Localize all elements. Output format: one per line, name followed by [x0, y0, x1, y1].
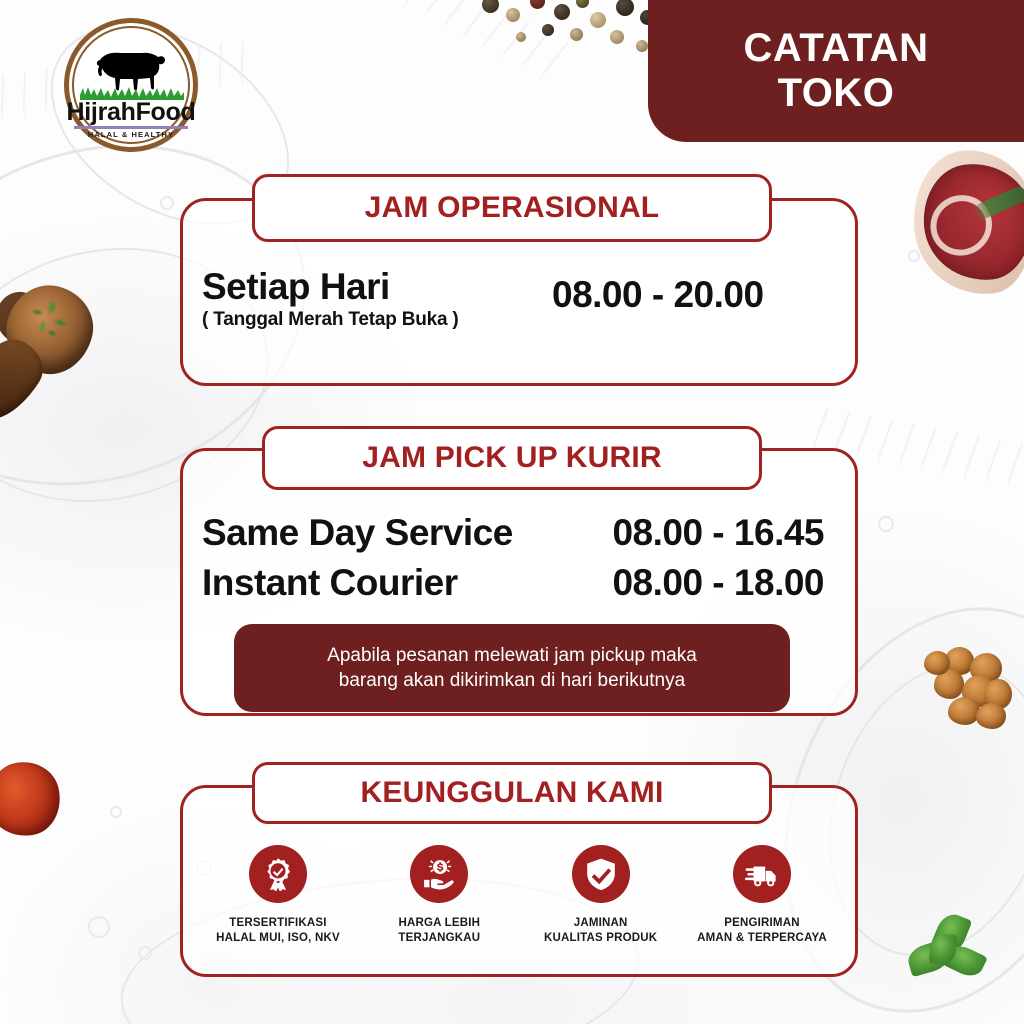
jam-operasional-body: Setiap Hari ( Tanggal Merah Tetap Buka )…	[202, 268, 842, 331]
delivery-truck-icon	[733, 845, 791, 903]
shield-check-icon	[572, 845, 630, 903]
jam-operasional-day-block: Setiap Hari ( Tanggal Merah Tetap Buka )	[202, 268, 552, 331]
pickup-row-value: 08.00 - 16.45	[566, 508, 824, 558]
engraved-dot-7	[878, 516, 894, 532]
engraved-dot-1	[88, 916, 110, 938]
jam-operasional-hours: 08.00 - 20.00	[552, 274, 764, 316]
feature-label-line2: AMAN & TERPERCAYA	[697, 931, 827, 946]
feature-label-line1: HARGA LEBIH	[398, 916, 480, 931]
hand-holding-money-icon	[410, 845, 468, 903]
pickup-notice-line2: barang akan dikirimkan di hari berikutny…	[339, 668, 685, 693]
pickup-notice-line1: Apabila pesanan melewati jam pickup maka	[327, 643, 697, 668]
features-list: TERSERTIFIKASI HALAL MUI, ISO, NKV HARGA…	[200, 845, 840, 946]
banner-title-line1: CATATAN	[744, 26, 929, 71]
feature-item: HARGA LEBIH TERJANGKAU	[361, 845, 517, 946]
feature-label-line1: TERSERTIFIKASI	[216, 916, 340, 931]
award-badge-icon	[249, 845, 307, 903]
header-banner: CATATAN TOKO	[648, 0, 1024, 142]
logo-underline	[74, 126, 188, 129]
feature-label-line1: JAMINAN	[544, 916, 657, 931]
basil-leaves-photo	[902, 914, 998, 998]
ribeye-steak-photo	[907, 144, 1024, 301]
feature-label-line1: PENGIRIMAN	[697, 916, 827, 931]
jam-operasional-day-note: ( Tanggal Merah Tetap Buka )	[202, 309, 552, 331]
feature-label-line2: TERJANGKAU	[398, 931, 480, 946]
brand-logo: HijrahFood HALAL & HEALTHY	[58, 14, 204, 166]
engraved-dot-4	[110, 806, 122, 818]
pickup-row: Instant Courier 08.00 - 18.00	[202, 558, 824, 608]
banner-title-line2: TOKO	[778, 71, 895, 116]
garlic-bulb-photo	[918, 645, 1014, 731]
pickup-row-value: 08.00 - 18.00	[566, 558, 824, 608]
jam-operasional-day-label: Setiap Hari	[202, 268, 552, 305]
logo-tagline: HALAL & HEALTHY	[58, 130, 204, 139]
feature-label-line2: KUALITAS PRODUK	[544, 931, 657, 946]
feature-label: TERSERTIFIKASI HALAL MUI, ISO, NKV	[216, 916, 340, 946]
pickup-row-label: Instant Courier	[202, 558, 562, 608]
feature-label: HARGA LEBIH TERJANGKAU	[398, 916, 480, 946]
card-title-jam-pick-up-kurir: JAM PICK UP KURIR	[262, 426, 762, 490]
pickup-rows: Same Day Service 08.00 - 16.45 Instant C…	[202, 508, 824, 608]
cow-icon	[94, 44, 168, 92]
feature-item: TERSERTIFIKASI HALAL MUI, ISO, NKV	[200, 845, 356, 946]
feature-label-line2: HALAL MUI, ISO, NKV	[216, 931, 340, 946]
engraved-dot-2	[138, 946, 152, 960]
card-title-jam-operasional: JAM OPERASIONAL	[252, 174, 772, 242]
feature-item: JAMINAN KUALITAS PRODUK	[523, 845, 679, 946]
logo-brand-name: HijrahFood	[58, 98, 204, 127]
card-title-keunggulan-kami: KEUNGGULAN KAMI	[252, 762, 772, 824]
pickup-row-label: Same Day Service	[202, 508, 562, 558]
engraved-dot-8	[160, 196, 174, 210]
pickup-row: Same Day Service 08.00 - 16.45	[202, 508, 824, 558]
feature-label: PENGIRIMAN AMAN & TERPERCAYA	[697, 916, 827, 946]
pickup-notice-banner: Apabila pesanan melewati jam pickup maka…	[234, 624, 790, 712]
feature-label: JAMINAN KUALITAS PRODUK	[544, 916, 657, 946]
feature-item: PENGIRIMAN AMAN & TERPERCAYA	[684, 845, 840, 946]
